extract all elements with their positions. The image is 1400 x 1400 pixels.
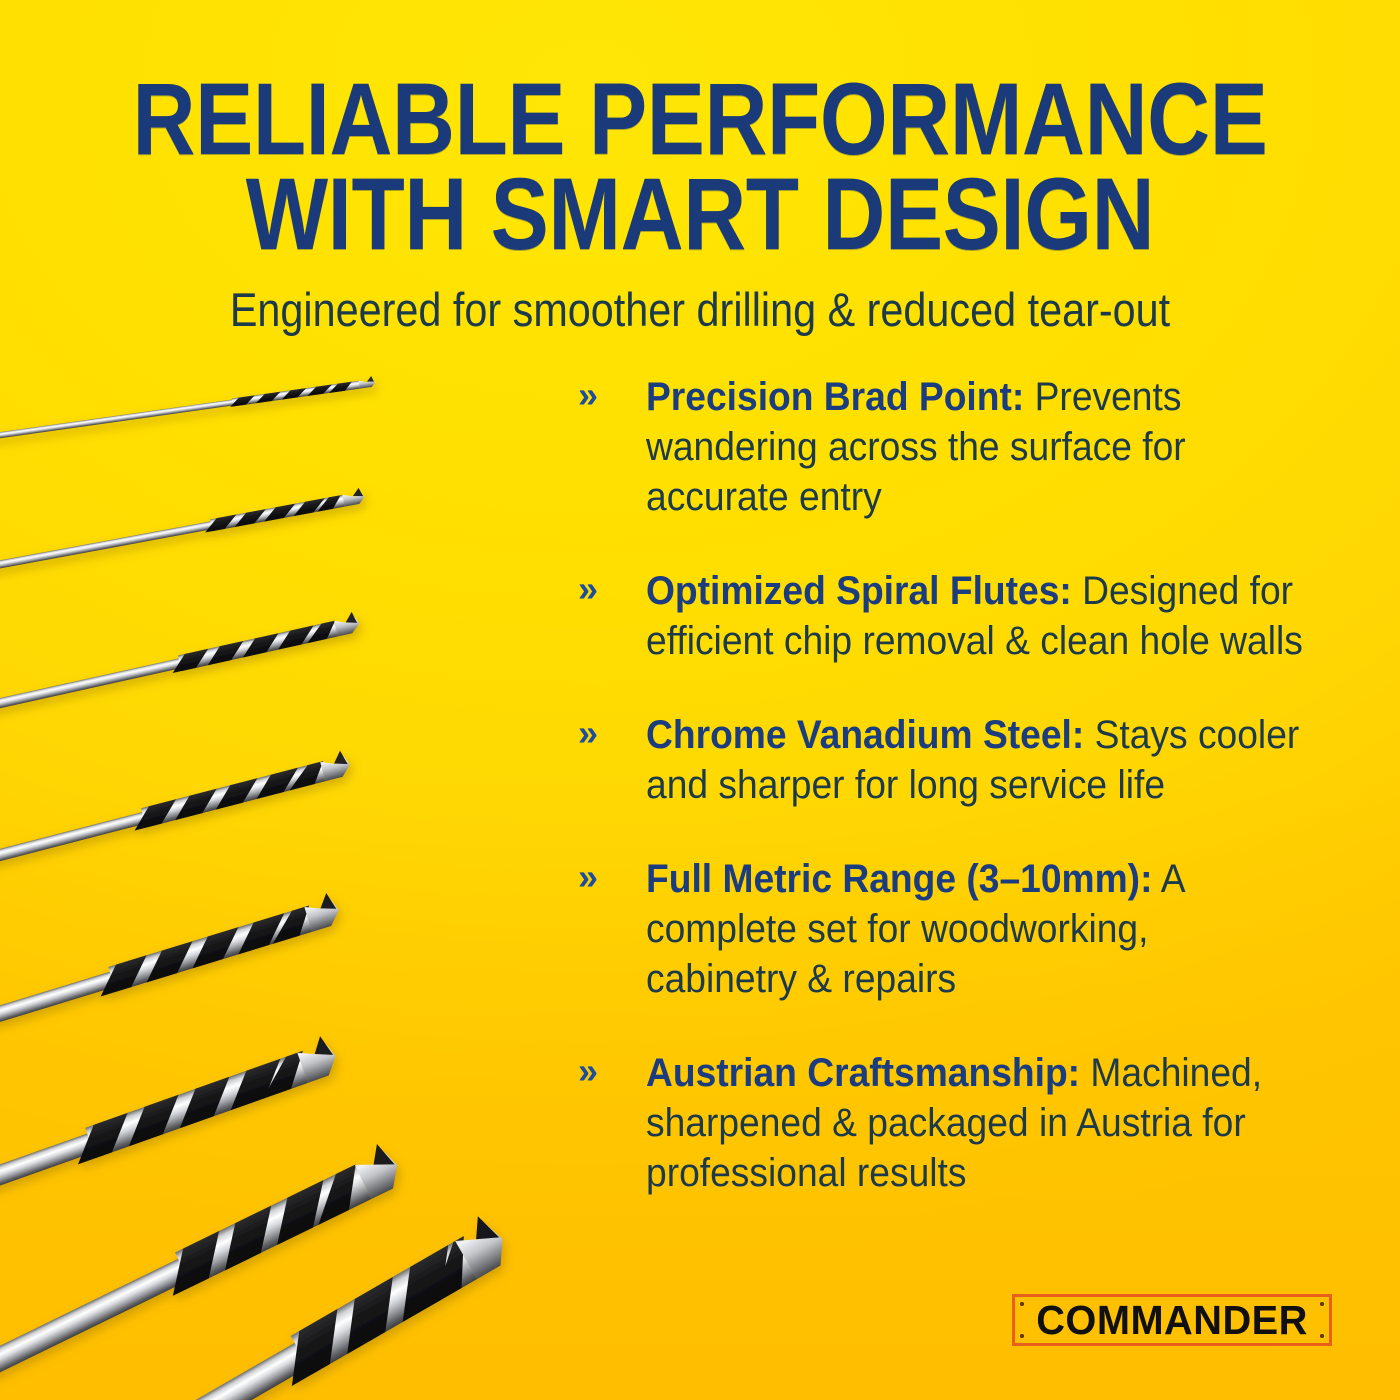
feature-text: Precision Brad Point: Prevents wandering… xyxy=(646,372,1304,522)
feature-list: » Precision Brad Point: Prevents wanderi… xyxy=(578,372,1353,1198)
logo-rivet-icon xyxy=(1320,1302,1324,1306)
feature-item-1: » Precision Brad Point: Prevents wanderi… xyxy=(578,372,1353,522)
heading-block: RELIABLE PERFORMANCE WITH SMART DESIGN E… xyxy=(0,72,1400,336)
feature-item-5: » Austrian Craftsmanship: Machined, shar… xyxy=(578,1048,1353,1198)
feature-lead-label: Chrome Vanadium Steel: xyxy=(646,713,1084,757)
feature-lead-label: Full Metric Range (3–10mm): xyxy=(646,857,1152,901)
feature-item-2: » Optimized Spiral Flutes: Designed for … xyxy=(578,566,1353,666)
feature-item-3: » Chrome Vanadium Steel: Stays cooler an… xyxy=(578,710,1353,810)
feature-text: Austrian Craftsmanship: Machined, sharpe… xyxy=(646,1048,1304,1198)
logo-rivet-icon xyxy=(1020,1302,1024,1306)
feature-item-4: » Full Metric Range (3–10mm): A complete… xyxy=(578,854,1353,1004)
feature-lead-label: Optimized Spiral Flutes: xyxy=(646,569,1072,613)
feature-text: Optimized Spiral Flutes: Designed for ef… xyxy=(646,566,1304,666)
feature-lead-label: Precision Brad Point: xyxy=(646,375,1024,419)
logo-rivet-icon xyxy=(1320,1334,1324,1338)
logo-rivet-icon xyxy=(1020,1334,1024,1338)
page-title-line-1: RELIABLE PERFORMANCE xyxy=(102,72,1299,167)
chevron-bullet-icon: » xyxy=(578,712,596,754)
feature-lead-label: Austrian Craftsmanship: xyxy=(646,1051,1080,1095)
page-subtitle: Engineered for smoother drilling & reduc… xyxy=(84,284,1316,336)
chevron-bullet-icon: » xyxy=(578,374,596,416)
chevron-bullet-icon: » xyxy=(578,1050,596,1092)
brand-name: COMMANDER xyxy=(1036,1300,1308,1341)
page-title-line-2: WITH SMART DESIGN xyxy=(102,167,1299,262)
infographic-canvas: RELIABLE PERFORMANCE WITH SMART DESIGN E… xyxy=(0,0,1400,1400)
chevron-bullet-icon: » xyxy=(578,568,596,610)
feature-text: Full Metric Range (3–10mm): A complete s… xyxy=(646,854,1304,1004)
feature-text: Chrome Vanadium Steel: Stays cooler and … xyxy=(646,710,1304,810)
chevron-bullet-icon: » xyxy=(578,856,596,898)
brand-logo: COMMANDER xyxy=(1012,1294,1332,1346)
